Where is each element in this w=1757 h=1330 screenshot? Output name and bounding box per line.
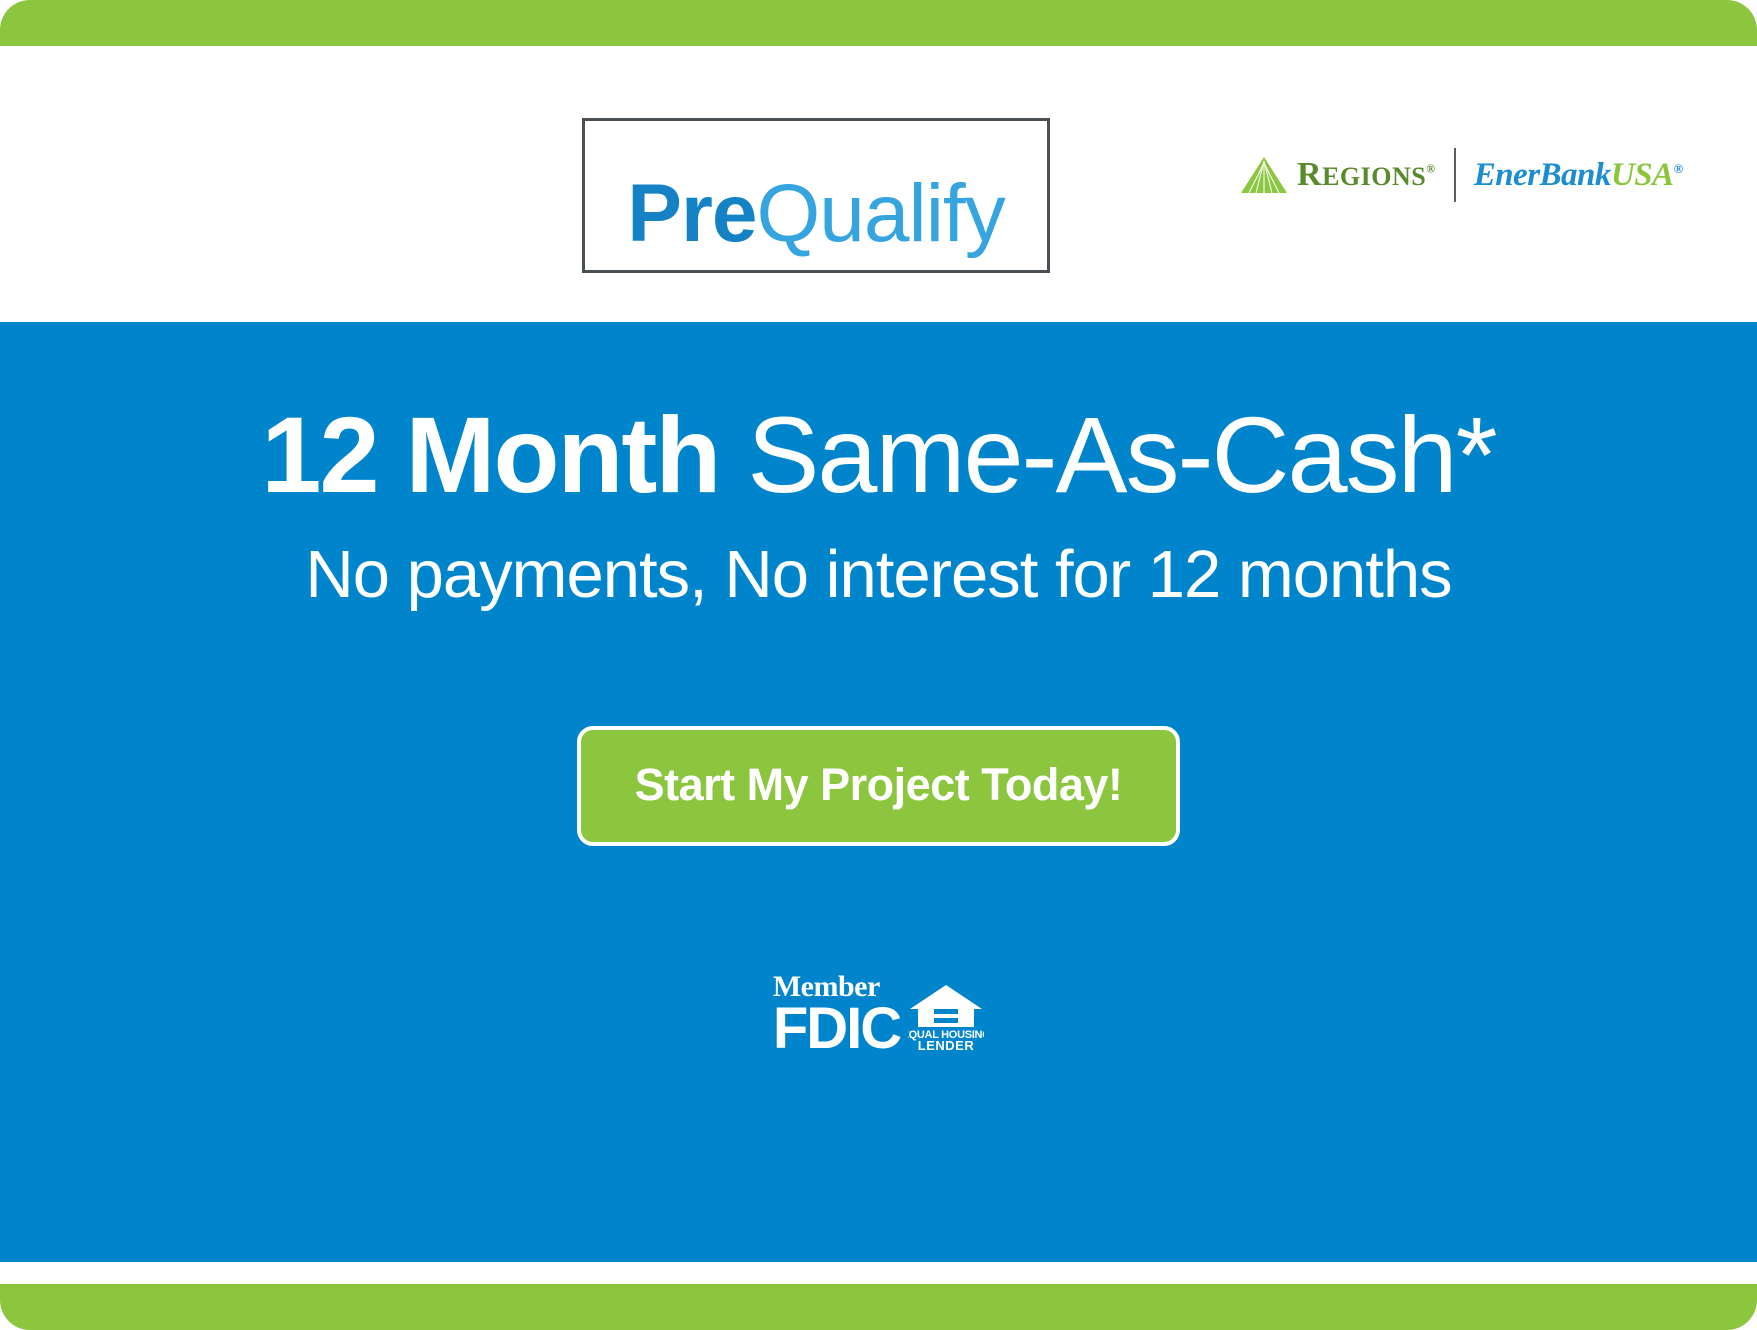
bottom-accent-bar xyxy=(0,1284,1757,1330)
card-body: 12 Month Same-As-Cash* No payments, No i… xyxy=(0,322,1757,1262)
regions-pyramid-icon xyxy=(1241,157,1287,193)
prequalify-pre: Pre xyxy=(627,168,756,259)
subheadline: No payments, No interest for 12 months xyxy=(0,538,1757,612)
headline: 12 Month Same-As-Cash* xyxy=(0,398,1757,511)
enerbank-name: EnerBank xyxy=(1474,157,1611,193)
start-my-project-button[interactable]: Start My Project Today! xyxy=(577,726,1181,846)
prequalify-logo-box: REGIONS® EnerBankUSA® PreQualify xyxy=(582,118,1050,273)
enerbank-trademark-icon: ® xyxy=(1674,161,1683,176)
prequalify-wordmark: PreQualify xyxy=(585,173,1047,255)
svg-text:LENDER: LENDER xyxy=(918,1038,975,1053)
fdic-ehl-lockup: Member FDIC EQUAL HOUSING LENDER xyxy=(0,972,1757,1053)
member-fdic-text: Member FDIC xyxy=(773,972,900,1053)
bank-logo-lockup: REGIONS® EnerBankUSA® xyxy=(1231,149,1693,201)
regions-word-rest: EGIONS xyxy=(1322,162,1426,191)
fdic-acronym-label: FDIC xyxy=(773,1004,900,1053)
enerbank-wordmark: EnerBankUSA® xyxy=(1474,159,1683,192)
headline-offer: Same-As-Cash* xyxy=(747,394,1495,515)
enerbank-usa: USA xyxy=(1611,157,1674,193)
promo-card: REGIONS® EnerBankUSA® PreQualify 12 Mont… xyxy=(0,0,1757,1330)
regions-initial: R xyxy=(1297,156,1322,193)
cta-container: Start My Project Today! xyxy=(0,726,1757,846)
prequalify-qualify: Qualify xyxy=(757,168,1005,259)
regions-trademark-icon: ® xyxy=(1426,162,1435,176)
bottom-white-rule xyxy=(0,1262,1757,1284)
regions-wordmark: REGIONS® xyxy=(1297,158,1436,192)
card-header: REGIONS® EnerBankUSA® PreQualify xyxy=(0,46,1757,322)
top-accent-bar xyxy=(0,0,1757,46)
equal-housing-lender-icon: EQUAL HOUSING LENDER xyxy=(908,983,984,1053)
headline-term: 12 Month xyxy=(261,394,719,515)
logo-divider xyxy=(1454,148,1456,202)
